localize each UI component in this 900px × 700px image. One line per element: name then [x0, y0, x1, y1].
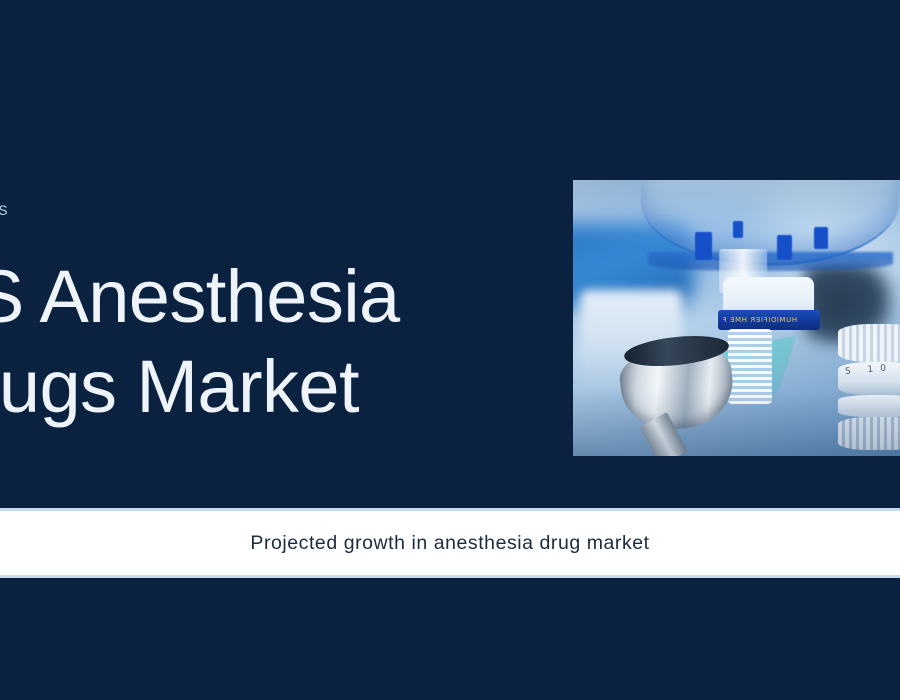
page-title-line-2: Drugs Market: [0, 342, 562, 432]
page-title-line-1: US Anesthesia: [0, 252, 562, 342]
caption-bar: Projected growth in anesthesia drug mark…: [0, 508, 900, 578]
eyebrow-label: INSIGHTS: [0, 204, 562, 218]
hero-text-block: INSIGHTS US Anesthesia Drugs Market: [0, 204, 562, 432]
footer-band: [0, 578, 900, 700]
hero-section: INSIGHTS US Anesthesia Drugs Market: [0, 0, 900, 508]
photo-vignette: [573, 180, 900, 456]
photo-backdrop: HUMIDIFIER HME F 5 10: [573, 180, 900, 456]
caption-text: Projected growth in anesthesia drug mark…: [250, 532, 649, 555]
hero-photo: HUMIDIFIER HME F 5 10: [573, 180, 900, 456]
page-title: US Anesthesia Drugs Market: [0, 252, 562, 432]
report-hero-slide: INSIGHTS US Anesthesia Drugs Market: [0, 0, 900, 700]
